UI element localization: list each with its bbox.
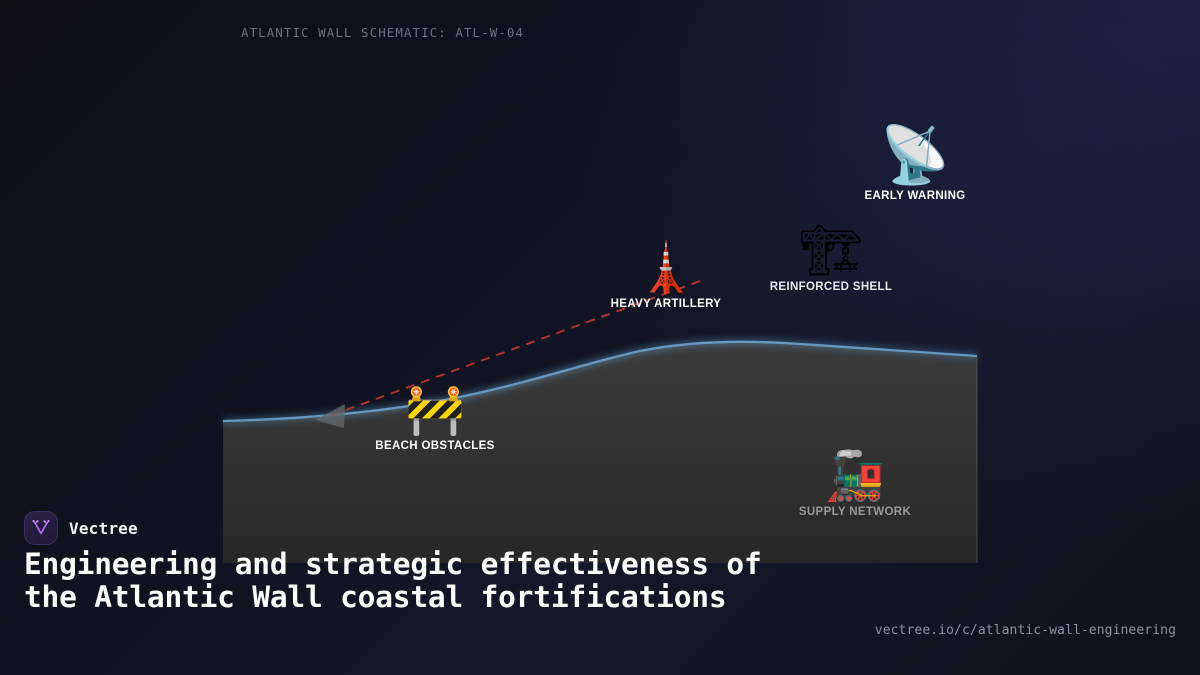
- node-heavy-artillery[interactable]: 🗼 HEAVY ARTILLERY: [611, 244, 722, 310]
- node-label-beach-obstacles: BEACH OBSTACLES: [375, 440, 494, 452]
- steam-locomotive-icon: 🚂: [799, 452, 911, 500]
- schematic-canvas: ATLANTIC WALL SCHEMATIC: ATL-W-04: [0, 0, 1200, 675]
- construction-barrier-icon: 🚧: [375, 386, 494, 434]
- tower-icon: 🗼: [611, 244, 722, 292]
- trajectory-arrow-icon: [315, 404, 345, 428]
- brand-block[interactable]: Vectree: [24, 511, 138, 545]
- coastline-glow: [223, 342, 977, 421]
- brand-name: Vectree: [69, 519, 138, 538]
- node-label-heavy-artillery: HEAVY ARTILLERY: [611, 298, 722, 310]
- construction-crane-icon: 🏗: [770, 225, 893, 275]
- node-reinforced-shell[interactable]: 🏗 REINFORCED SHELL: [770, 225, 893, 293]
- satellite-dish-icon: 📡: [864, 128, 965, 184]
- vectree-v-logo-icon: [24, 511, 58, 545]
- page-url: vectree.io/c/atlantic-wall-engineering: [875, 623, 1176, 638]
- coastline-stroke: [223, 342, 977, 421]
- node-label-early-warning: EARLY WARNING: [864, 190, 965, 202]
- node-supply-network[interactable]: 🚂 SUPPLY NETWORK: [799, 452, 911, 518]
- node-label-supply-network: SUPPLY NETWORK: [799, 506, 911, 518]
- node-early-warning[interactable]: 📡 EARLY WARNING: [864, 128, 965, 202]
- node-beach-obstacles[interactable]: 🚧 BEACH OBSTACLES: [375, 386, 494, 452]
- schematic-id-label: ATLANTIC WALL SCHEMATIC: ATL-W-04: [241, 25, 524, 40]
- page-title: Engineering and strategic effectiveness …: [24, 548, 824, 613]
- node-label-reinforced-shell: REINFORCED SHELL: [770, 281, 893, 293]
